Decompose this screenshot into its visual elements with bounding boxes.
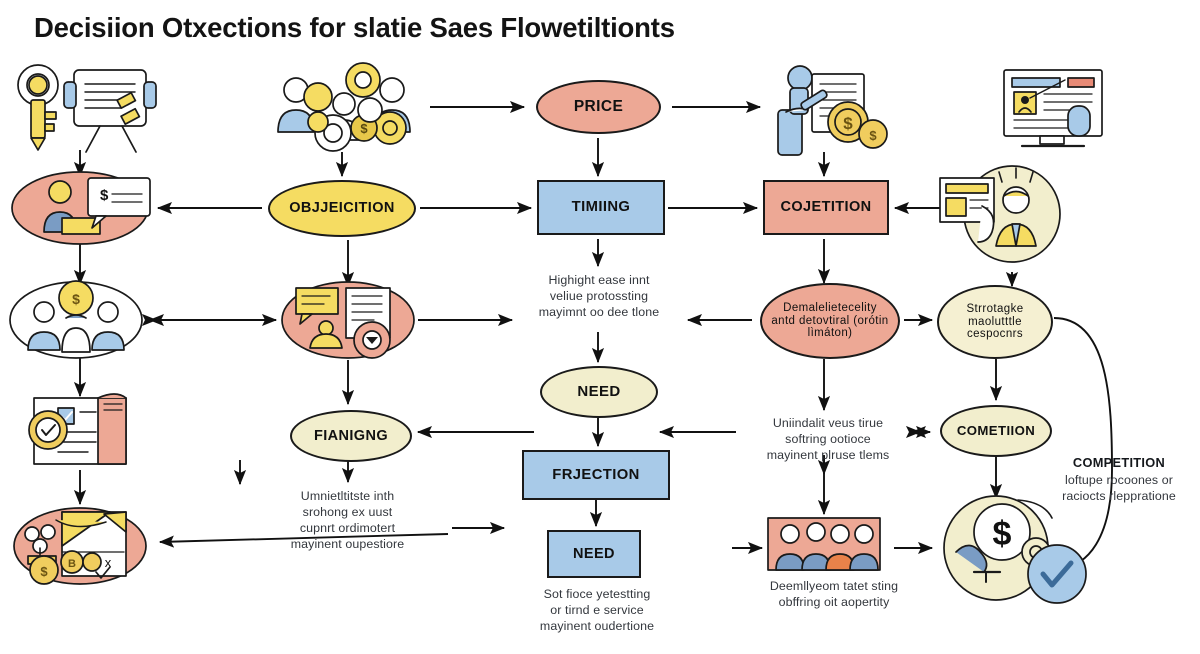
node-objection[interactable]: OBJJEICITION: [268, 180, 416, 237]
node-need-bottom-label: NEED: [573, 546, 615, 562]
node-need-top-label: NEED: [577, 384, 620, 401]
node-need-top[interactable]: NEED: [540, 366, 658, 418]
node-fianigng-label: FIANIGNG: [314, 428, 388, 444]
svg-text:$: $: [869, 128, 877, 143]
svg-text:$: $: [100, 187, 109, 204]
text-line: mayinent oudertione: [508, 618, 686, 634]
diagram-canvas: Decisiion Otxections for slatie Saes Flo…: [0, 0, 1200, 654]
text-line: Uniindalit veus tirue: [744, 415, 912, 431]
node-timing[interactable]: TIMIING: [537, 180, 665, 235]
node-demat-label: Demalelietecelity antd detovtiral (oróti…: [762, 302, 898, 341]
text-line: obffring oit aopertity: [745, 594, 923, 610]
text-line: veliue protossting: [520, 288, 678, 304]
node-cojetition-label: COJETITION: [780, 199, 871, 215]
node-demat[interactable]: Demalelietecelity antd detovtiral (oróti…: [760, 283, 900, 359]
document-gear-ellipse-icon: [282, 282, 414, 358]
text-line: mayimnt oo dee tlone: [520, 304, 678, 320]
text-line: mayinent plruse tlems: [744, 447, 912, 463]
deal-coins-ellipse-icon: $ B x: [14, 508, 146, 584]
node-strategic[interactable]: Strrotagke maolutttle cespocnrs: [937, 285, 1053, 359]
text-value-proof: Highight ease innt veliue protossting ma…: [520, 272, 678, 320]
text-line: Umnietltitste inth: [250, 488, 445, 504]
node-fianigng[interactable]: FIANIGNG: [290, 410, 412, 462]
node-strategic-label: Strrotagke maolutttle cespocnrs: [939, 303, 1051, 342]
text-payment-options: Umnietltitste inth srohong ex uust cupnr…: [250, 488, 445, 553]
node-timing-label: TIMIING: [572, 199, 631, 216]
node-frjection[interactable]: FRJECTION: [522, 450, 670, 500]
svg-text:$: $: [843, 114, 853, 133]
text-line: srohong ex uust: [250, 504, 445, 520]
svg-text:$: $: [993, 515, 1012, 553]
text-undialt-terms: Uniindalit veus tirue softring ootioce m…: [744, 415, 912, 463]
svg-text:$: $: [360, 121, 368, 136]
monitor-profile-screen-icon: [1004, 70, 1102, 146]
node-need-bottom[interactable]: NEED: [547, 530, 641, 578]
checklist-clock-doc-icon: [29, 394, 126, 464]
text-line: raciocts rleppratione: [1044, 488, 1194, 504]
node-price[interactable]: PRICE: [536, 80, 661, 134]
node-price-label: PRICE: [574, 98, 623, 115]
node-frjection-label: FRJECTION: [552, 467, 639, 484]
svg-text:$: $: [72, 291, 80, 307]
text-line: cupnrt ordimotert: [250, 520, 445, 536]
person-writing-coins-icon: $ $: [778, 66, 887, 155]
text-line: softring ootioce: [744, 431, 912, 447]
text-service-offer: Sot fioce yetestting or tirnd e service …: [508, 586, 686, 634]
person-invoice-ellipse-icon: $: [12, 172, 150, 244]
text-line: loftupe rocoones or: [1044, 472, 1194, 488]
page-title: Decisiion Otxections for slatie Saes Flo…: [34, 12, 675, 44]
text-line: Highight ease innt: [520, 272, 678, 288]
gear-key-document-icon: [18, 65, 156, 152]
team-gears-coins-icon: $: [278, 63, 410, 151]
node-cometiion-label: COMETIION: [957, 424, 1035, 439]
team-coin-ellipse-icon: $: [10, 281, 142, 358]
text-delivery-note: Deemllyeom tatet sting obffring oit aope…: [745, 578, 923, 610]
node-objection-label: OBJJEICITION: [289, 200, 395, 216]
people-group-rect-icon: [768, 518, 880, 570]
text-line: Deemllyeom tatet sting: [745, 578, 923, 594]
text-line: Sot fioce yetestting: [508, 586, 686, 602]
text-competition-note: COMPETITION loftupe rocoones or raciocts…: [1044, 455, 1194, 504]
businessman-review-circle-icon: [940, 166, 1060, 262]
text-line: mayinent oupestiore: [250, 536, 445, 552]
text-line: or tirnd e service: [508, 602, 686, 618]
node-cojetition[interactable]: COJETITION: [763, 180, 889, 235]
node-cometiion[interactable]: COMETIION: [940, 405, 1052, 457]
dollar-check-circle-icon: $: [944, 496, 1086, 603]
svg-text:B: B: [68, 558, 76, 570]
svg-text:x: x: [105, 555, 112, 570]
competition-heading: COMPETITION: [1044, 455, 1194, 472]
svg-text:$: $: [40, 564, 48, 579]
